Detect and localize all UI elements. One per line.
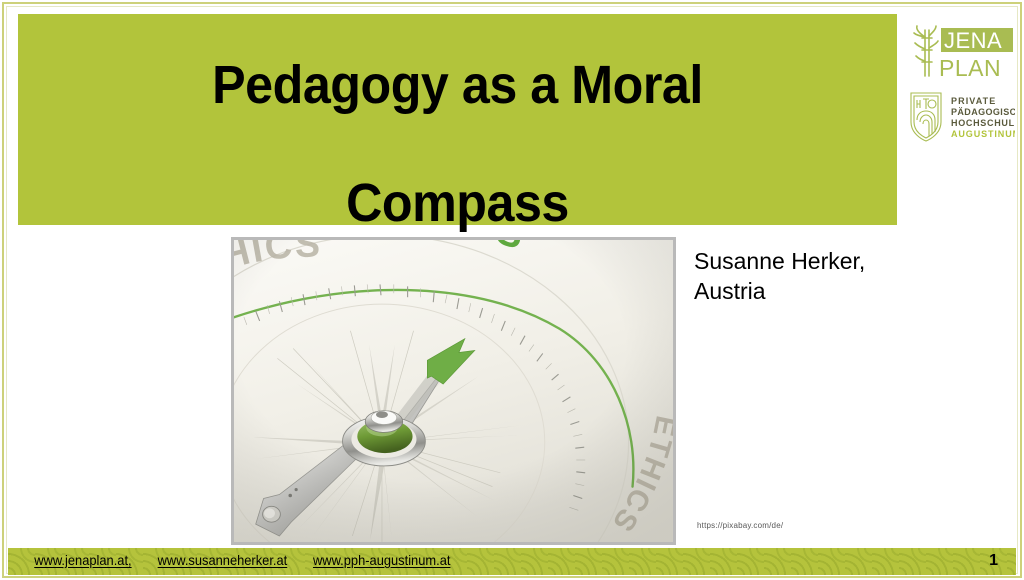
compass-illustration: ETHICS ETHICS ETHICS bbox=[234, 240, 673, 544]
footer-link-pph-augustinum[interactable]: www.pph-augustinum.at bbox=[313, 552, 450, 568]
pph-augustinum-logo: PRIVATE PÄDAGOGISCHE HOCHSCHULE AUGUSTIN… bbox=[907, 90, 1015, 144]
svg-text:AUGUSTINUM: AUGUSTINUM bbox=[951, 129, 1015, 139]
author-name: Susanne Herker, Austria bbox=[694, 246, 944, 306]
presentation-slide: Pedagogy as a Moral Compass JENA bbox=[0, 0, 1024, 580]
jenaplan-logo: JENA PLAN bbox=[911, 24, 1015, 80]
title-banner: Pedagogy as a Moral Compass bbox=[18, 14, 897, 225]
page-title: Pedagogy as a Moral Compass bbox=[49, 26, 866, 262]
compass-image: ETHICS ETHICS ETHICS bbox=[231, 237, 676, 545]
svg-text:PÄDAGOGISCHE: PÄDAGOGISCHE bbox=[951, 107, 1015, 117]
logo-block: JENA PLAN PRIVATE PÄDAGOGISCHE HOCHSCHUL… bbox=[903, 18, 1015, 148]
svg-text:PRIVATE: PRIVATE bbox=[951, 96, 996, 106]
svg-text:PLAN: PLAN bbox=[939, 55, 1001, 80]
svg-text:HOCHSCHULE: HOCHSCHULE bbox=[951, 118, 1015, 128]
footer-link-susanneherker[interactable]: www.susanneherker.at bbox=[157, 552, 287, 568]
footer-link-jenaplan[interactable]: www.jenaplan.at, bbox=[34, 552, 131, 568]
page-number: 1 bbox=[989, 552, 998, 570]
svg-text:JENA: JENA bbox=[944, 28, 1002, 53]
footer-links: www.jenaplan.at, www.susanneherker.at ww… bbox=[30, 552, 456, 568]
image-attribution: https://pixabay.com/de/ bbox=[697, 521, 783, 530]
footer-bar: www.jenaplan.at, www.susanneherker.at ww… bbox=[8, 548, 1016, 575]
